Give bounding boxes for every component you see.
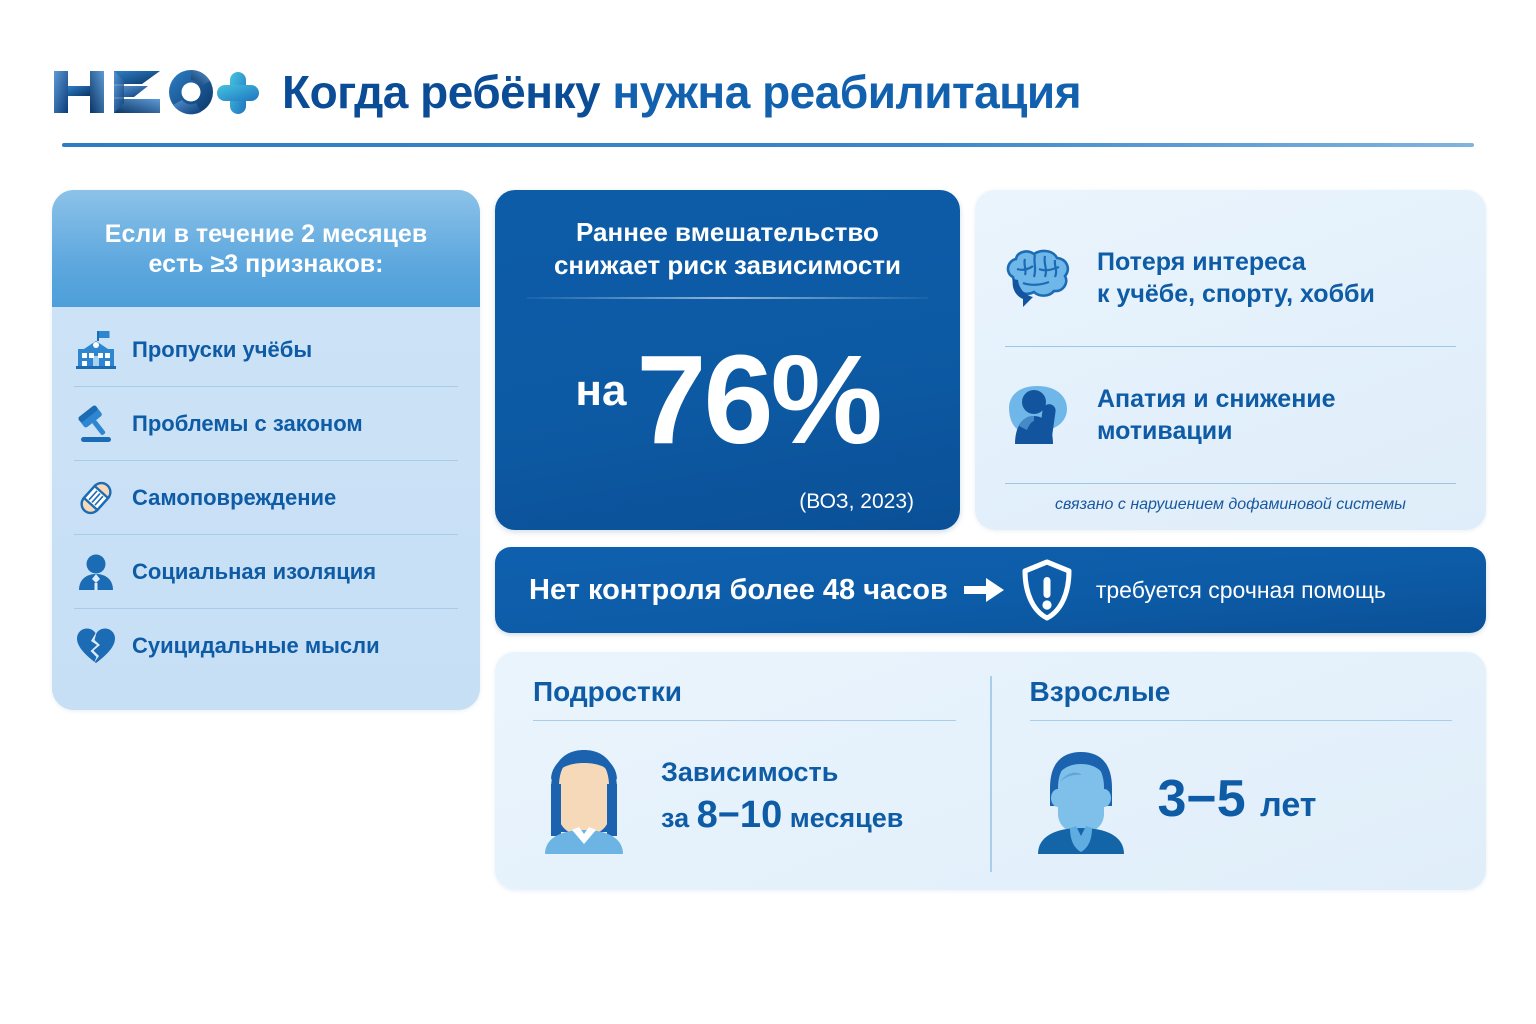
list-item: Социальная изоляция	[74, 535, 458, 609]
statistic-source: (ВОЗ, 2023)	[523, 490, 932, 514]
comparison-teens-heading: Подростки	[529, 676, 956, 708]
alert-sub-text: требуется срочная помощь	[1096, 577, 1386, 604]
comparison-teens-body: Зависимость за 8−10 месяцев	[529, 721, 956, 872]
broken-heart-icon	[74, 624, 118, 668]
alert-main-text: Нет контроля более 48 часов	[529, 574, 948, 607]
symptom-interest-line-2: к учёбе, спорту, хобби	[1097, 278, 1375, 311]
comparison-adults-number: 3−5	[1158, 770, 1246, 828]
list-item-label: Пропуски учёбы	[132, 337, 312, 363]
urgent-alert-bar: Нет контроля более 48 часов требуется ср…	[495, 547, 1486, 633]
apathy-icon	[1001, 380, 1077, 450]
page-header: Когда ребёнку нужна реабилитация	[52, 46, 1484, 138]
comparison-teens-prefix: за	[661, 803, 689, 833]
adult-man-avatar	[1026, 744, 1136, 854]
criteria-card: Если в течение 2 месяцев есть ≥3 признак…	[52, 190, 480, 710]
comparison-teens-text: Зависимость за 8−10 месяцев	[661, 756, 903, 841]
symptom-row-interest: Потеря интереса к учёбе, спорту, хобби	[1001, 212, 1460, 344]
symptom-apathy-line-2: мотивации	[1097, 415, 1336, 448]
list-item-label: Самоповреждение	[132, 485, 336, 511]
list-item-label: Суицидальные мысли	[132, 633, 380, 659]
symptom-divider-2	[1005, 483, 1456, 484]
criteria-card-header: Если в течение 2 месяцев есть ≥3 признак…	[52, 190, 480, 307]
list-item-label: Социальная изоляция	[132, 559, 376, 585]
content-board: Если в течение 2 месяцев есть ≥3 признак…	[52, 190, 1486, 890]
criteria-list: Пропуски учёбы Проблемы с з	[52, 307, 480, 710]
statistic-value-row: на 76%	[523, 295, 932, 506]
symptom-card: Потеря интереса к учёбе, спорту, хобби	[975, 190, 1486, 530]
symptom-divider-1	[1005, 346, 1456, 347]
criteria-header-line-1: Если в течение 2 месяцев	[105, 219, 427, 249]
comparison-column-adults: Взрослые	[990, 676, 1487, 872]
statistic-value: 76%	[636, 337, 879, 463]
comparison-card: Подростки	[495, 652, 1486, 890]
page-title: Когда ребёнку нужна реабилитация	[282, 65, 1081, 119]
symptom-text-interest: Потеря интереса к учёбе, спорту, хобби	[1097, 246, 1375, 311]
symptom-footnote: связано с нарушением дофаминовой системы	[1001, 486, 1460, 516]
symptom-row-apathy: Апатия и снижение мотивации	[1001, 349, 1460, 481]
symptom-interest-line-1: Потеря интереса	[1097, 246, 1375, 279]
neo-plus-logo	[52, 63, 260, 121]
comparison-teens-line-1: Зависимость	[661, 756, 903, 790]
comparison-adults-unit: лет	[1260, 786, 1316, 824]
bandage-icon	[74, 476, 118, 520]
page-title-lead: Когда ребёнку	[282, 66, 600, 118]
list-item: Пропуски учёбы	[74, 313, 458, 387]
statistic-prefix: на	[575, 366, 626, 434]
comparison-teens-number: 8−10	[697, 794, 783, 836]
list-item: Проблемы с законом	[74, 387, 458, 461]
comparison-teens-suffix: месяцев	[790, 803, 904, 833]
person-icon	[74, 550, 118, 594]
criteria-header-line-2: есть ≥3 признаков:	[149, 249, 384, 279]
list-item-label: Проблемы с законом	[132, 411, 363, 437]
teen-girl-avatar	[529, 744, 639, 854]
gavel-icon	[74, 402, 118, 446]
page-title-rest: нужна реабилитация	[612, 66, 1081, 118]
symptom-apathy-line-1: Апатия и снижение	[1097, 383, 1336, 416]
infographic-page: Когда ребёнку нужна реабилитация Если в …	[0, 0, 1536, 1024]
header-divider	[62, 143, 1474, 147]
comparison-column-teens: Подростки	[495, 676, 990, 872]
symptom-text-apathy: Апатия и снижение мотивации	[1097, 383, 1336, 448]
list-item: Самоповреждение	[74, 461, 458, 535]
school-icon	[74, 328, 118, 372]
list-item: Суицидальные мысли	[74, 609, 458, 683]
statistic-heading: Раннее вмешательство снижает риск зависи…	[523, 216, 932, 283]
comparison-adults-heading: Взрослые	[1026, 676, 1453, 708]
statistic-heading-line-1: Раннее вмешательство	[523, 216, 932, 249]
statistic-card: Раннее вмешательство снижает риск зависи…	[495, 190, 960, 530]
shield-alert-icon	[1020, 559, 1074, 621]
comparison-adults-body: 3−5 лет	[1026, 721, 1453, 872]
statistic-heading-line-2: снижает риск зависимости	[523, 249, 932, 282]
comparison-teens-line-2: за 8−10 месяцев	[661, 790, 903, 841]
comparison-adults-value: 3−5 лет	[1158, 769, 1317, 829]
brain-icon	[1001, 243, 1077, 313]
arrow-right-icon	[964, 577, 1004, 603]
